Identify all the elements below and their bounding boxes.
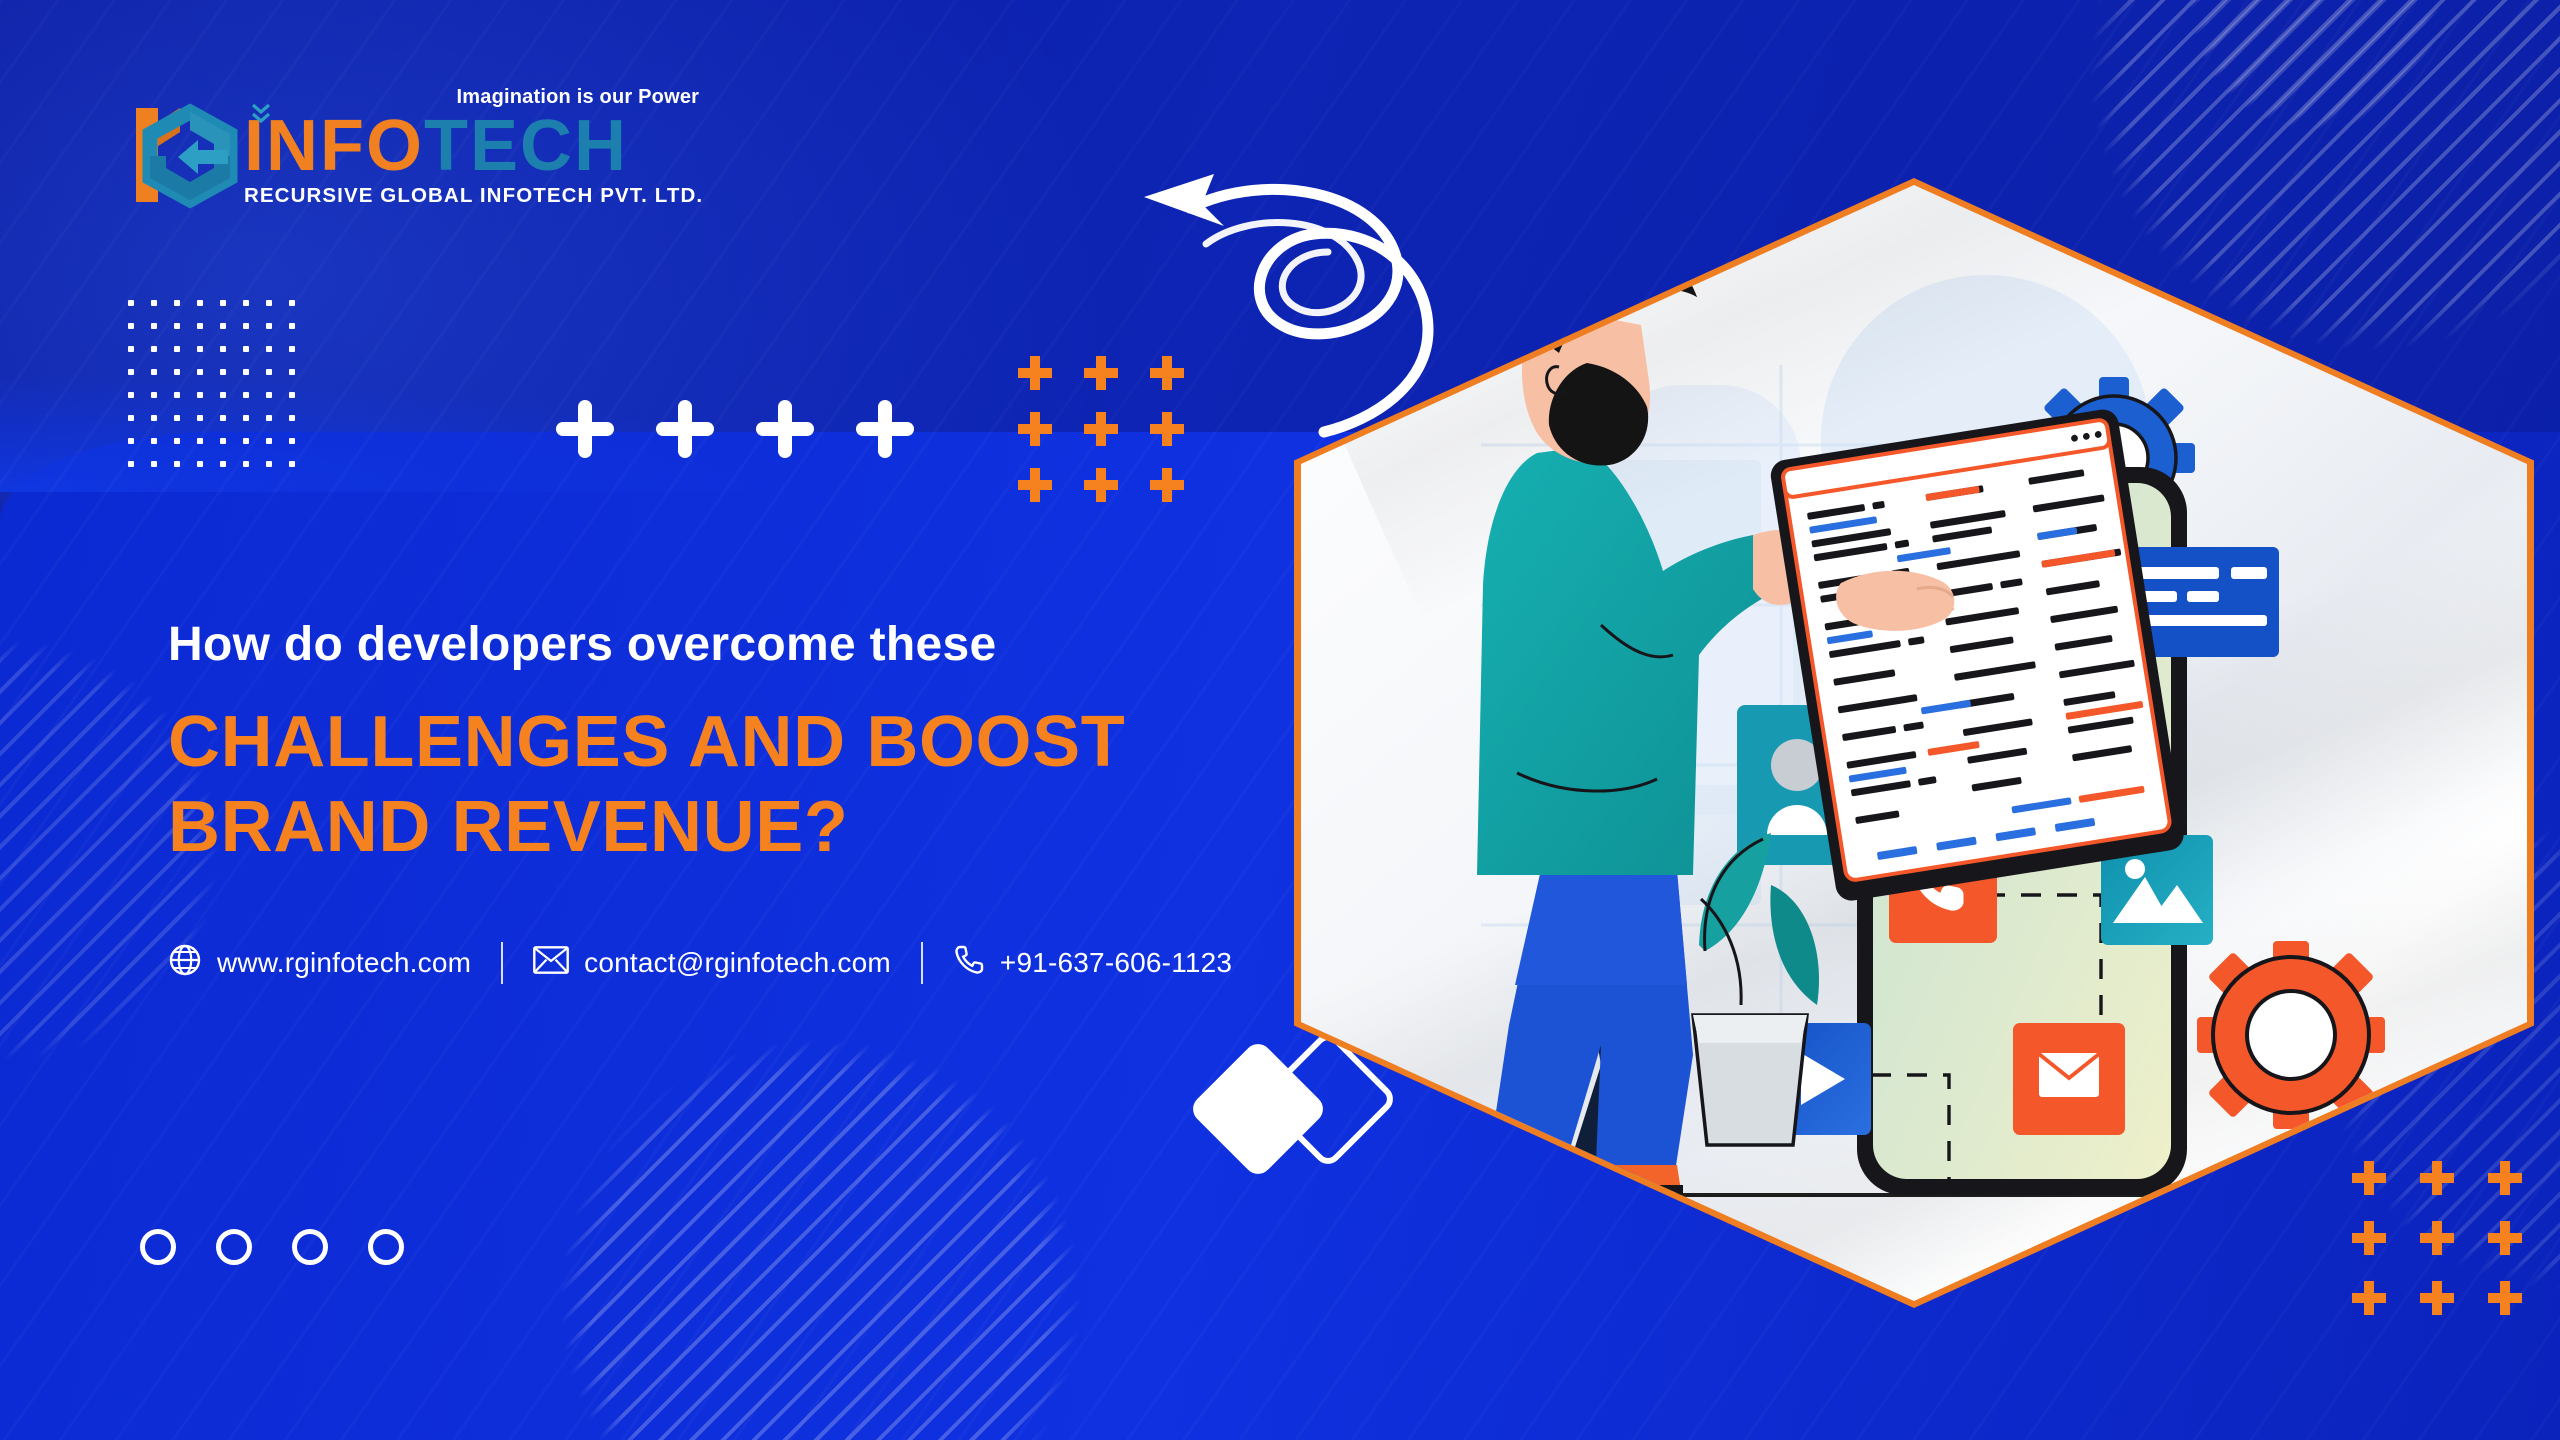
hexagon-illustration bbox=[1294, 178, 2534, 1308]
brand-logo[interactable]: Imagination is our Power INFOTECH RECURS… bbox=[128, 92, 703, 210]
circle-outline-icon bbox=[140, 1229, 176, 1265]
phone-handset-icon bbox=[953, 944, 985, 983]
contact-email[interactable]: contact@rginfotech.com bbox=[533, 946, 891, 981]
white-plus-row-decoration bbox=[556, 400, 914, 458]
banner-canvas: Imagination is our Power INFOTECH RECURS… bbox=[0, 0, 2560, 1440]
plus-icon bbox=[1018, 356, 1052, 390]
headline-main-line-1: CHALLENGES AND BOOST bbox=[168, 700, 1368, 785]
dot-grid-decoration bbox=[128, 300, 295, 467]
contact-separator bbox=[501, 942, 503, 984]
headline-main-line-2: BRAND REVENUE? bbox=[168, 785, 1368, 870]
plus-icon bbox=[1084, 412, 1118, 446]
hexagon-inner-panel bbox=[1301, 185, 2527, 1301]
globe-icon bbox=[168, 943, 202, 984]
logo-tagline: Imagination is our Power bbox=[457, 86, 700, 109]
rg-hexagon-logo-icon bbox=[128, 100, 238, 210]
scene-illustration bbox=[1301, 185, 2527, 1301]
circle-outline-row-decoration bbox=[140, 1229, 404, 1265]
plus-icon bbox=[1150, 468, 1184, 502]
logo-company-line: RECURSIVE GLOBAL INFOTECH PVT. LTD. bbox=[244, 184, 703, 208]
contact-email-text: contact@rginfotech.com bbox=[584, 947, 891, 979]
plus-icon bbox=[756, 400, 814, 458]
contact-phone[interactable]: +91-637-606-1123 bbox=[953, 944, 1232, 983]
contact-phone-text: +91-637-606-1123 bbox=[1000, 947, 1232, 979]
envelope-icon bbox=[533, 946, 569, 981]
headline-subtitle: How do developers overcome these bbox=[168, 620, 1368, 670]
plus-icon bbox=[1084, 468, 1118, 502]
plus-icon bbox=[1018, 412, 1052, 446]
plus-icon bbox=[1018, 468, 1052, 502]
plus-icon bbox=[656, 400, 714, 458]
plus-icon bbox=[556, 400, 614, 458]
chevron-down-icon bbox=[250, 102, 272, 133]
logo-wordmark: Imagination is our Power INFOTECH RECURS… bbox=[244, 92, 703, 210]
circle-outline-icon bbox=[216, 1229, 252, 1265]
logo-name-tech: TECH bbox=[424, 106, 628, 186]
contact-website[interactable]: www.rginfotech.com bbox=[168, 943, 471, 984]
circle-outline-icon bbox=[292, 1229, 328, 1265]
code-document-tablet bbox=[1769, 407, 2186, 903]
plus-icon bbox=[1084, 356, 1118, 390]
contact-bar: www.rginfotech.com contact@rginfotech.co… bbox=[168, 942, 1232, 984]
plus-icon bbox=[856, 400, 914, 458]
logo-name: INFOTECH bbox=[244, 110, 703, 182]
person-hand bbox=[1836, 571, 1954, 631]
headline-block: How do developers overcome these CHALLEN… bbox=[168, 620, 1368, 870]
mail-tile bbox=[2013, 1023, 2125, 1135]
circle-outline-icon bbox=[368, 1229, 404, 1265]
contact-separator bbox=[921, 942, 923, 984]
contact-website-text: www.rginfotech.com bbox=[217, 947, 471, 979]
